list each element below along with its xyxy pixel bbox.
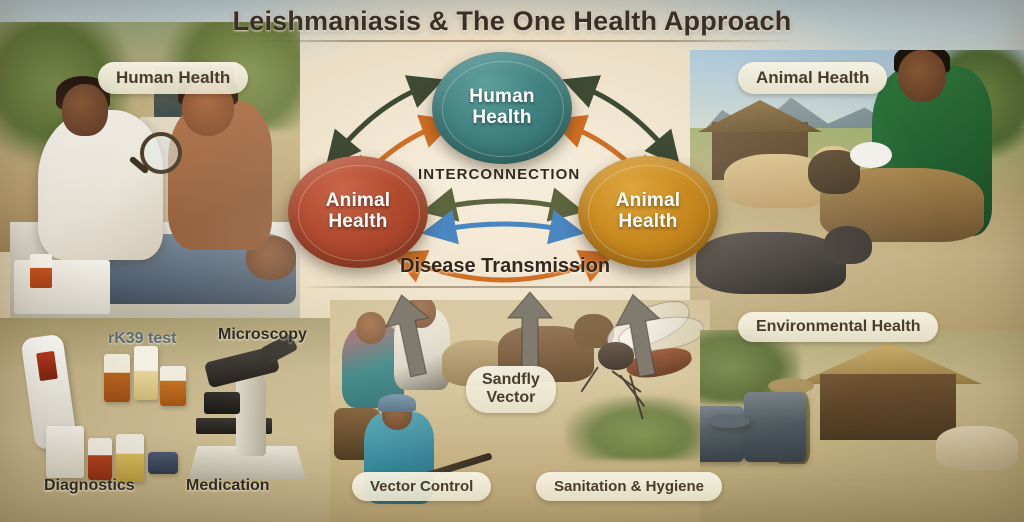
disease-transmission-divider [300, 286, 720, 288]
node-human-health-line1: Human [469, 86, 534, 107]
disease-transmission-label: Disease Transmission [400, 255, 610, 278]
label-microscopy: Microscopy [218, 326, 307, 344]
infographic-poster: Leishmaniasis & The One Health Approach [0, 0, 1024, 522]
interconnection-label: INTERCONNECTION [418, 166, 580, 183]
label-sandfly-line2: Vector [486, 389, 535, 406]
node-animal-health-right-line1: Animal [616, 190, 681, 211]
label-sanitation-hygiene: Sanitation & Hygiene [536, 472, 722, 501]
label-vector-control: Vector Control [352, 472, 491, 501]
node-animal-health-left[interactable]: Animal Health [288, 156, 428, 268]
label-human-health-quadrant: Human Health [98, 62, 248, 94]
label-diagnostics: Diagnostics [44, 477, 135, 495]
disease-transmission-arrows [380, 288, 680, 378]
label-sandfly-vector: Sandfly Vector [466, 366, 556, 413]
node-animal-health-left-line1: Animal [326, 190, 391, 211]
node-animal-health-right[interactable]: Animal Health [578, 156, 718, 268]
sanitation-scene-illustration [700, 330, 1024, 522]
node-human-health[interactable]: Human Health [432, 52, 572, 164]
title-divider [232, 40, 792, 42]
label-rk39-test: rK39 test [108, 330, 176, 348]
label-environmental-health-quadrant: Environmental Health [738, 312, 938, 342]
label-animal-health-quadrant: Animal Health [738, 62, 887, 94]
node-animal-health-left-line2: Health [328, 211, 387, 232]
label-medication: Medication [186, 477, 270, 495]
node-animal-health-right-line2: Health [618, 211, 677, 232]
node-human-health-line2: Health [472, 107, 531, 128]
poster-title: Leishmaniasis & The One Health Approach [0, 6, 1024, 37]
label-sandfly-line1: Sandfly [482, 371, 540, 388]
